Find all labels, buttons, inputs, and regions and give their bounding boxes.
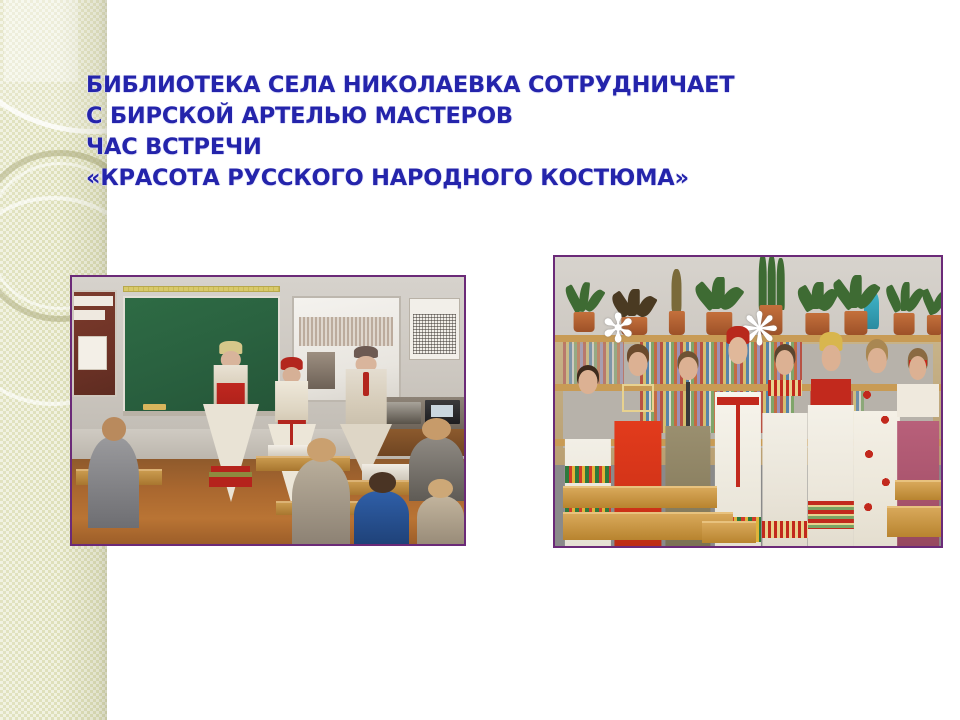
projection-screen-image <box>299 317 393 346</box>
skirt-trim-red-upper <box>211 466 250 472</box>
head <box>628 352 647 376</box>
plant-leaves <box>922 281 943 319</box>
plant-leaves <box>798 275 837 318</box>
collar-trim <box>622 384 654 412</box>
bulletin-board-title <box>74 296 113 307</box>
plant-leaves <box>887 275 922 318</box>
photo-group-portrait: ✻ ❋ <box>553 255 943 548</box>
head <box>909 356 927 380</box>
front-stripe <box>736 403 740 486</box>
wooden-bench <box>702 521 756 543</box>
plant-leaves <box>663 268 690 315</box>
title-line-3: ЧАС ВСТРЕЧИ <box>86 132 906 163</box>
potted-plant <box>887 280 922 335</box>
necktie <box>686 382 690 426</box>
student <box>88 437 139 528</box>
head <box>428 479 452 498</box>
embroidery-band <box>768 380 802 397</box>
head <box>822 345 841 371</box>
chalkboard <box>123 296 280 413</box>
flower-pot <box>894 313 915 335</box>
head <box>868 348 887 373</box>
plant-leaves <box>837 268 876 315</box>
student <box>417 496 464 544</box>
wall-chart-grid <box>413 314 456 354</box>
wooden-bench <box>895 480 943 499</box>
head <box>679 357 698 381</box>
scarf <box>363 372 370 396</box>
skirt-trim-red-lower <box>209 477 252 487</box>
blouse <box>275 381 309 423</box>
title-line-1: БИБЛИОТЕКА СЕЛА НИКОЛАЕВКА СОТРУДНИЧАЕТ <box>86 70 906 101</box>
person-in-folk-costume <box>806 332 856 546</box>
potted-plant <box>922 286 943 335</box>
white-sleeves <box>897 384 940 416</box>
plant-leaves <box>567 278 602 316</box>
head <box>369 472 396 492</box>
head <box>729 337 748 363</box>
potted-plant <box>837 274 876 335</box>
potted-plant <box>567 283 602 332</box>
flower-pot <box>574 312 595 332</box>
wall-ruler-strip <box>123 286 280 293</box>
embroidery-band-upper <box>565 466 611 483</box>
flower-pot <box>927 315 943 335</box>
bulletin-board-paper <box>78 336 107 371</box>
flower-pot <box>668 311 684 335</box>
title-line-4: «КРАСОТА РУССКОГО НАРОДНОГО КОСТЮМА» <box>86 163 906 194</box>
skirt <box>203 404 259 502</box>
student <box>354 491 409 544</box>
laptop-screen <box>431 405 453 417</box>
classroom-scene <box>72 277 464 544</box>
chalk-tray-item <box>143 404 167 411</box>
slide-canvas: БИБЛИОТЕКА СЕЛА НИКОЛАЕВКА СОТРУДНИЧАЕТ … <box>0 0 960 720</box>
person-in-folk-costume <box>760 338 810 546</box>
group-portrait-scene: ✻ ❋ <box>555 257 941 546</box>
title-line-2: С БИРСКОЙ АРТЕЛЬЮ МАСТЕРОВ <box>86 101 906 132</box>
hem-trim <box>808 501 854 529</box>
costumed-presenter-1 <box>205 341 256 501</box>
wooden-bench <box>563 486 717 508</box>
red-bodice <box>811 379 851 405</box>
student <box>292 459 351 544</box>
head <box>775 350 794 375</box>
hem-trim <box>762 521 808 538</box>
wooden-bench <box>887 506 943 537</box>
head <box>307 438 336 462</box>
head <box>578 370 597 394</box>
head <box>422 418 451 440</box>
slide-title: БИБЛИОТЕКА СЕЛА НИКОЛАЕВКА СОТРУДНИЧАЕТ … <box>86 70 906 194</box>
potted-plant <box>798 280 837 335</box>
bulletin-board-subtitle <box>74 310 105 319</box>
potted-plant <box>663 274 690 335</box>
plant-leaves <box>698 271 740 316</box>
head <box>102 417 126 441</box>
photo-classroom-presentation <box>70 275 466 546</box>
